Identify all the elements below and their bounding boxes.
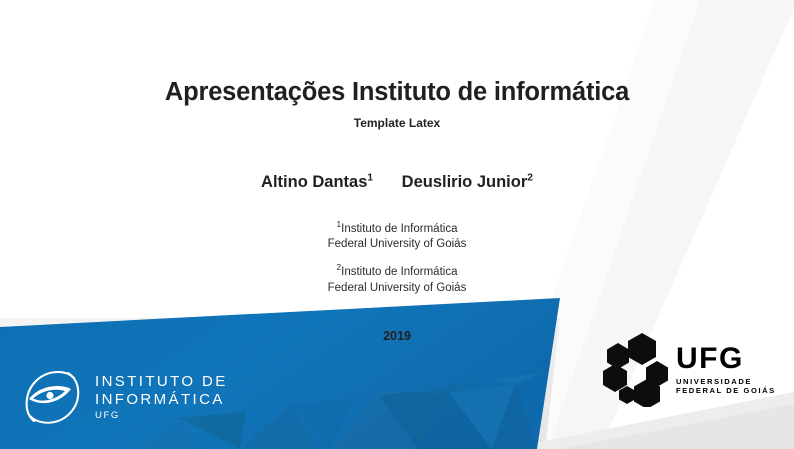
institute-logo-wordmark: INSTITUTO DE INFORMÁTICA UFG (95, 374, 228, 421)
eye-icon (22, 366, 84, 428)
title-block: Apresentações Instituto de informática T… (0, 78, 794, 131)
institute-logo: INSTITUTO DE INFORMÁTICA UFG (22, 366, 228, 428)
authors-list: Altino Dantas1 Deuslirio Junior2 (0, 173, 794, 192)
author-entry: Deuslirio Junior2 (402, 173, 533, 192)
affiliation-line-2: Federal University of Goiás (0, 237, 794, 252)
institute-logo-line-1: INSTITUTO DE (95, 374, 228, 389)
institute-logo-line-3: UFG (95, 411, 228, 421)
author-name: Altino Dantas (261, 173, 367, 191)
page-title: Apresentações Instituto de informática (0, 78, 794, 107)
affiliation-entry: 1Instituto de Informática Federal Univer… (0, 222, 794, 252)
hexagon-cluster-icon (602, 331, 670, 407)
university-logo-wordmark: UFG UNIVERSIDADE FEDERAL DE GOIÁS (676, 344, 776, 395)
affiliation-line-1: Instituto de Informática (341, 223, 457, 235)
university-sub-line-2: FEDERAL DE GOIÁS (676, 387, 776, 395)
author-entry: Altino Dantas1 (261, 173, 373, 192)
affiliation-entry: 2Instituto de Informática Federal Univer… (0, 265, 794, 295)
author-affiliation-marker: 1 (367, 173, 373, 184)
author-name: Deuslirio Junior (402, 173, 528, 191)
institute-logo-line-2: INFORMÁTICA (95, 392, 228, 407)
page-subtitle: Template Latex (0, 116, 794, 130)
affiliations-list: 1Instituto de Informática Federal Univer… (0, 222, 794, 296)
affiliation-line-2: Federal University of Goiás (0, 281, 794, 296)
university-acronym: UFG (676, 344, 776, 374)
university-sub-line-1: UNIVERSIDADE (676, 378, 776, 386)
affiliation-line-1: Instituto de Informática (341, 266, 457, 278)
author-affiliation-marker: 2 (527, 173, 533, 184)
university-logo: UFG UNIVERSIDADE FEDERAL DE GOIÁS (602, 331, 776, 407)
title-slide: Apresentações Instituto de informática T… (0, 0, 794, 449)
